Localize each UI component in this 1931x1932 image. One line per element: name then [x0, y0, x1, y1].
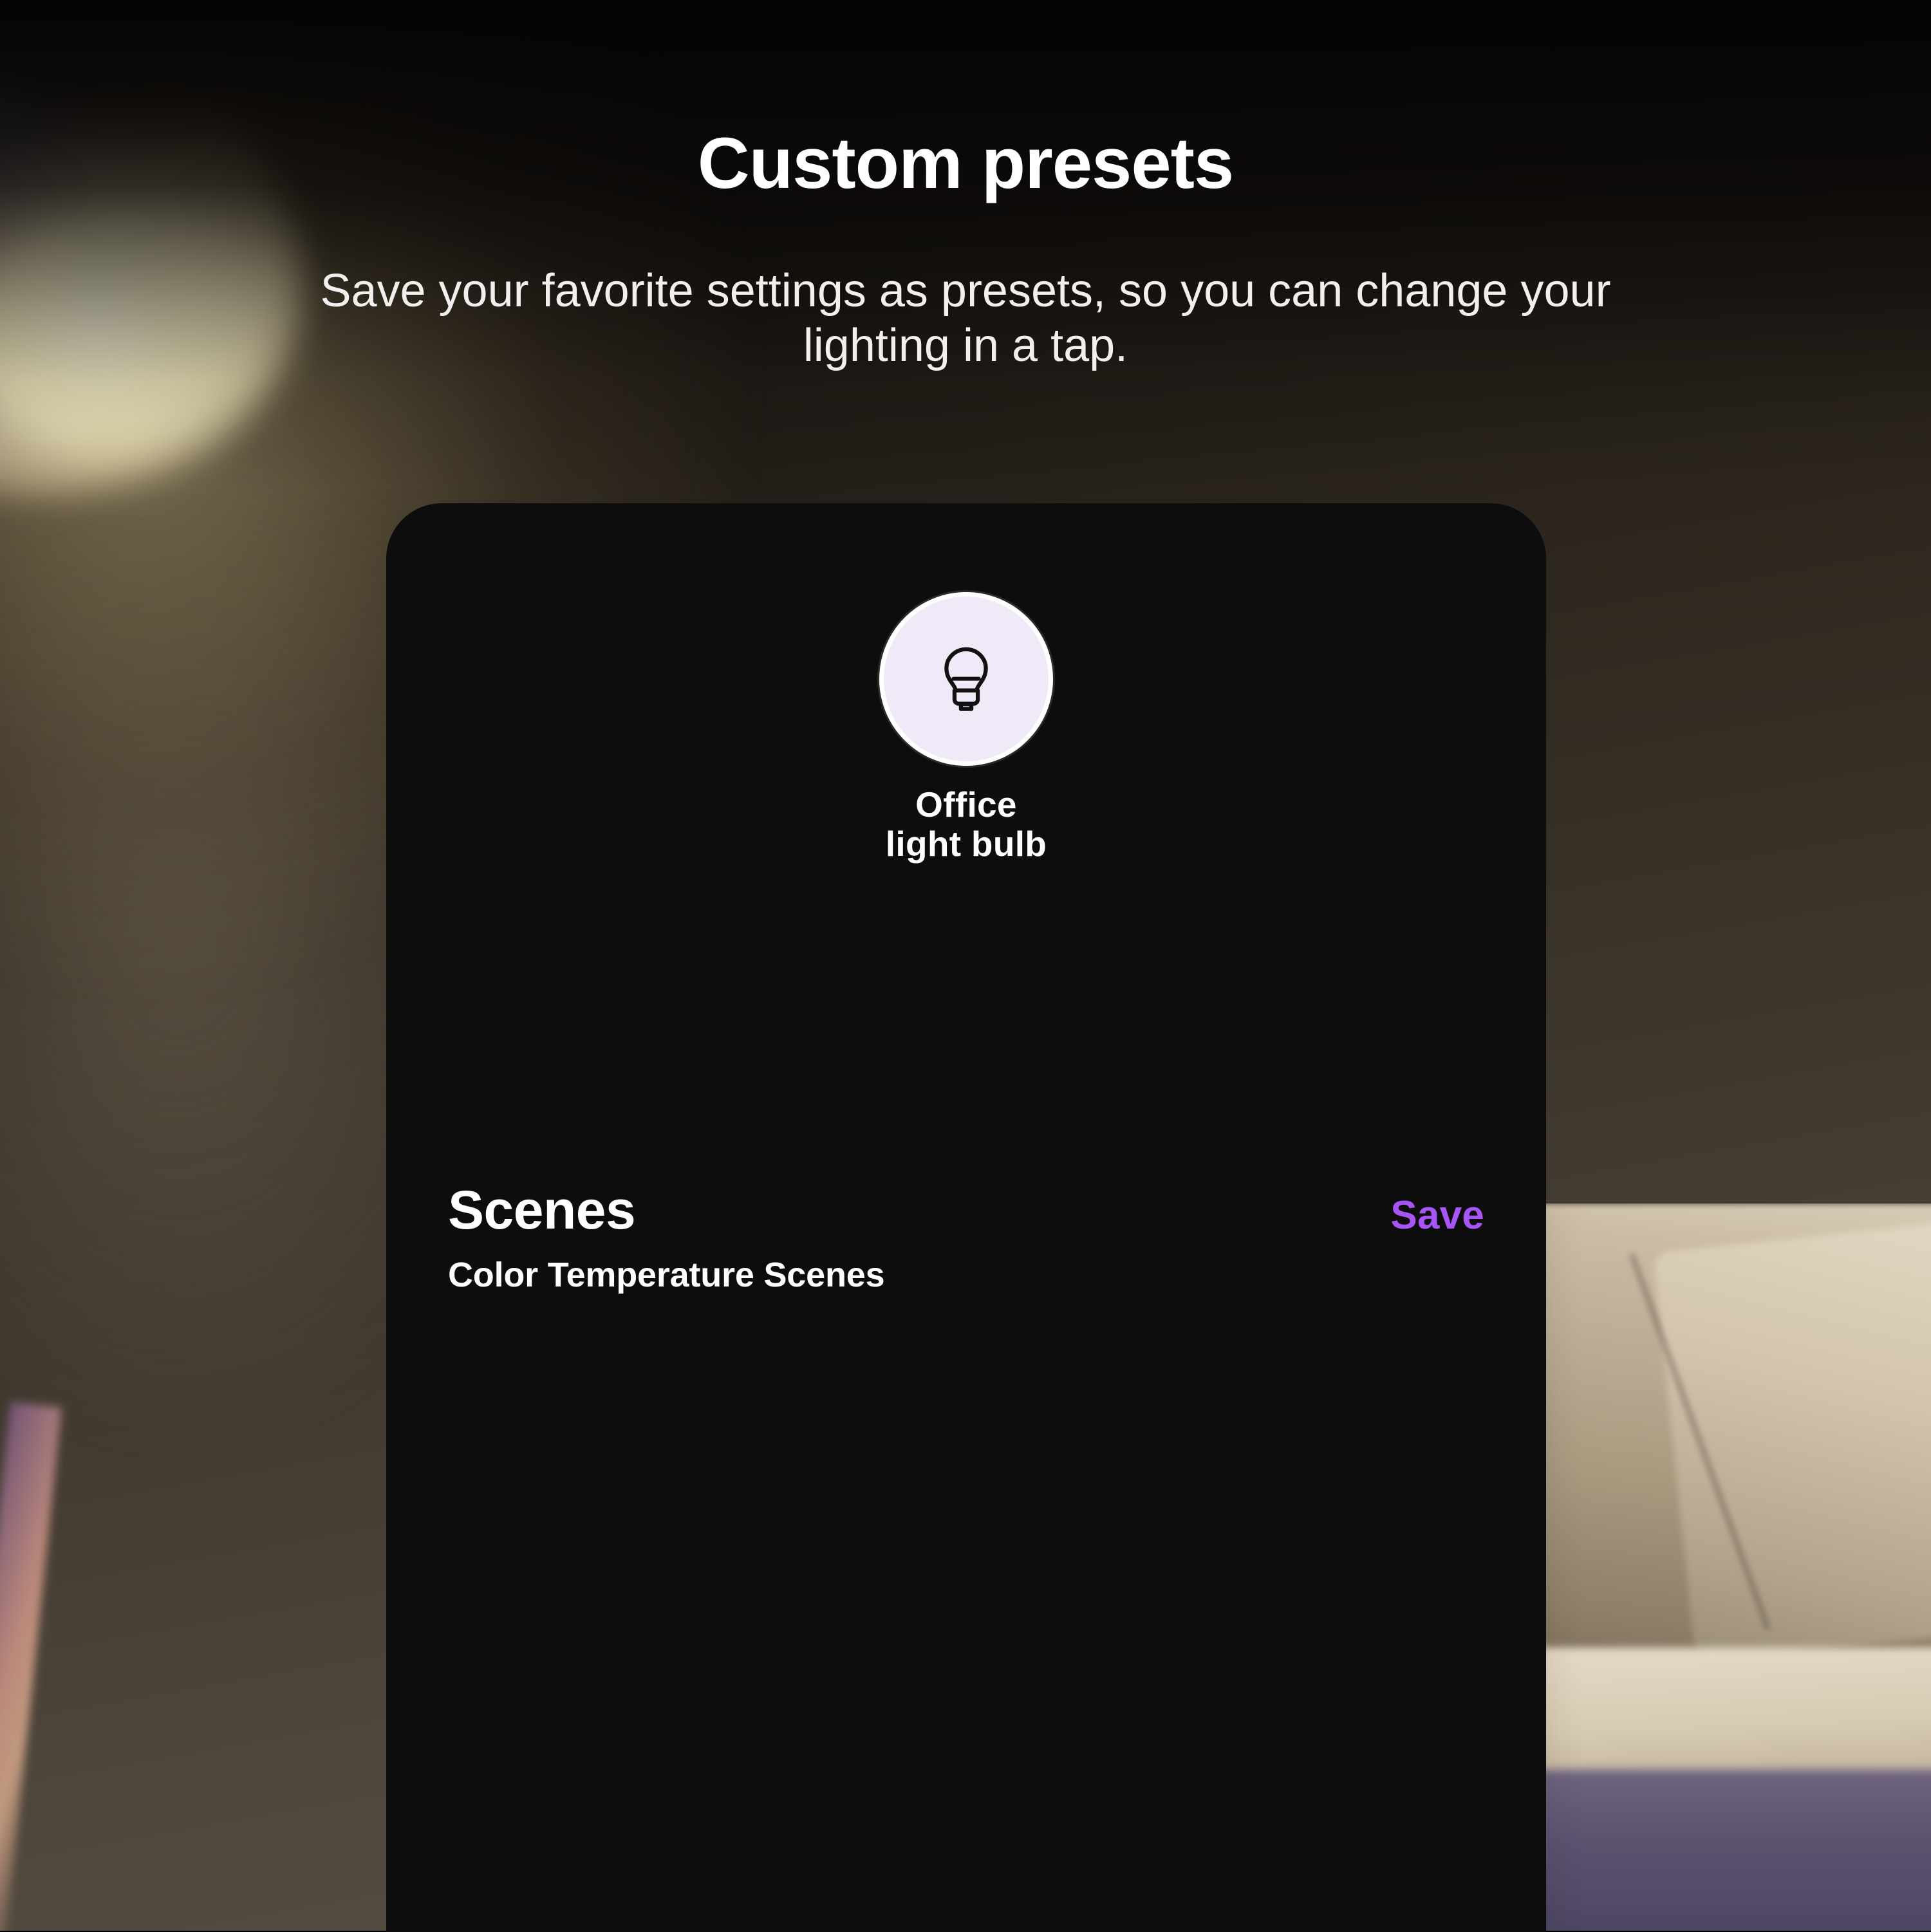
- scenes-header-row: Scenes Save: [448, 1179, 1484, 1241]
- device-header: Office light bulb: [386, 592, 1546, 863]
- page-subtitle: Save your favorite settings as presets, …: [257, 264, 1674, 373]
- app-panel: Office light bulb Scenes Save Color Temp…: [386, 503, 1546, 1932]
- device-name-line1: Office: [886, 785, 1047, 824]
- top-vignette: [0, 0, 1931, 489]
- couch-pillow: [1653, 1218, 1931, 1663]
- device-name-line2: light bulb: [886, 824, 1047, 864]
- scenes-heading: Scenes: [448, 1179, 635, 1241]
- device-name: Office light bulb: [886, 785, 1047, 863]
- light-bulb-icon: [928, 641, 1004, 717]
- scene-cards-scroller[interactable]: Night LightCozyBrigh: [386, 1333, 1546, 1932]
- scenes-subheading: Color Temperature Scenes: [448, 1255, 884, 1295]
- save-button[interactable]: Save: [1390, 1193, 1484, 1238]
- page-title: Custom presets: [0, 127, 1931, 200]
- device-avatar[interactable]: [879, 592, 1053, 766]
